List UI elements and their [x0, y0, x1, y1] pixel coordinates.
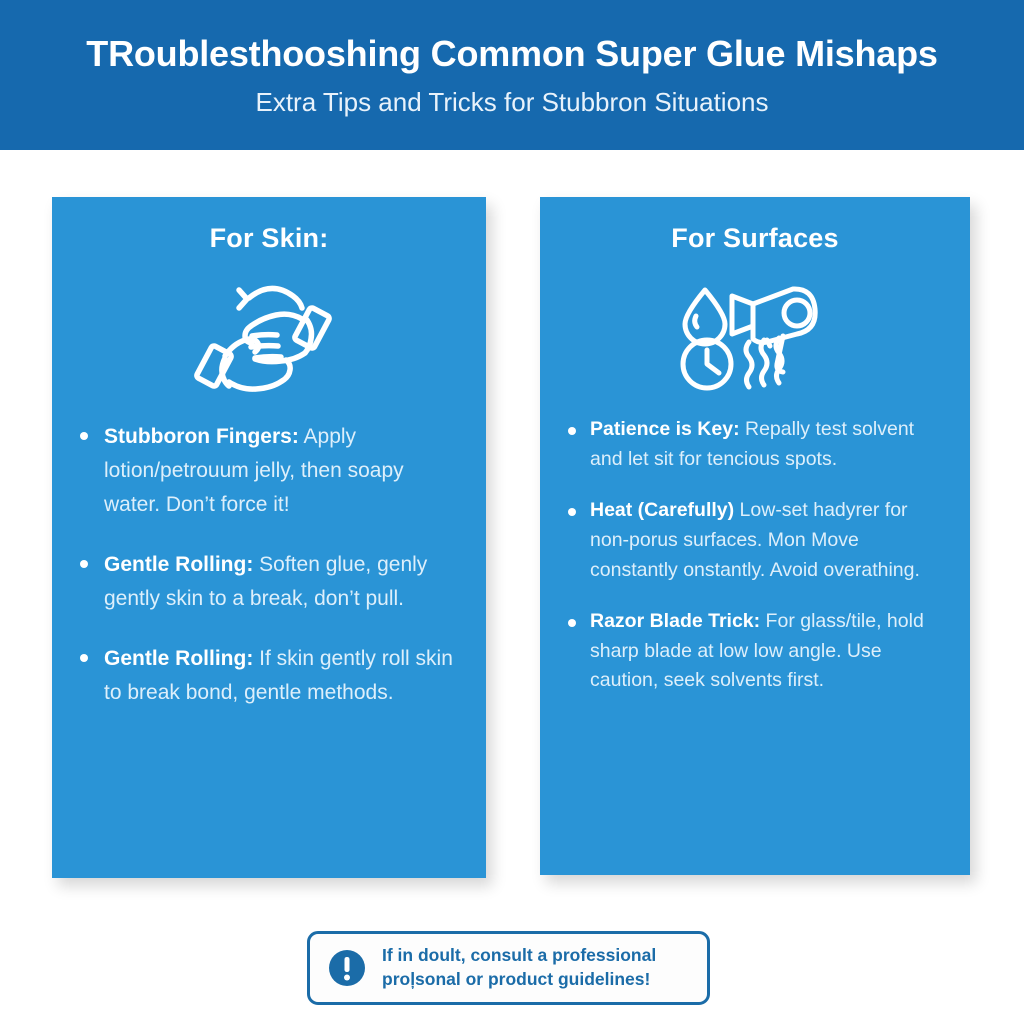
list-item: Heat (Carefully) Low-set hadyrer for non…: [562, 496, 948, 585]
surfaces-tip-list: Patience is Key: Repally test solvent an…: [562, 415, 948, 696]
list-item: Patience is Key: Repally test solvent an…: [562, 415, 948, 474]
list-item: Gentle Rolling: If skin gently roll skin…: [74, 642, 464, 710]
page-subtitle: Extra Tips and Tricks for Stubbron Situa…: [255, 88, 768, 117]
bullet-dot-icon: [568, 508, 576, 516]
header-banner: TRoublesthooshing Common Super Glue Mish…: [0, 0, 1024, 150]
bullet-lead: Gentle Rolling:: [104, 553, 253, 576]
card-for-skin: For Skin: Stub: [52, 197, 486, 878]
card-title-skin: For Skin:: [74, 223, 464, 254]
bullet-lead: Stubboron Fingers:: [104, 425, 299, 448]
bullet-dot-icon: [80, 560, 88, 568]
hairdryer-droplet-clock-icon: [675, 270, 835, 395]
list-item: Razor Blade Trick: For glass/tile, hold …: [562, 607, 948, 696]
list-item: Stubboron Fingers: Apply lotion/petrouum…: [74, 420, 464, 522]
bullet-lead: Patience is Key:: [590, 418, 740, 440]
bullet-dot-icon: [80, 654, 88, 662]
disclaimer-text: If in doult, consult a professional proļ…: [382, 944, 689, 991]
exclamation-circle-icon: [328, 949, 366, 987]
bullet-lead: Razor Blade Trick:: [590, 610, 760, 632]
skin-tip-list: Stubboron Fingers: Apply lotion/petrouum…: [74, 420, 464, 710]
bullet-lead: Gentle Rolling:: [104, 647, 253, 670]
page-title: TRoublesthooshing Common Super Glue Mish…: [86, 34, 937, 74]
hands-rubbing-icon: [189, 270, 349, 400]
bullet-dot-icon: [568, 427, 576, 435]
bullet-lead: Heat (Carefully): [590, 499, 734, 521]
list-item: Gentle Rolling: Soften glue, genly gentl…: [74, 548, 464, 616]
disclaimer-note: If in doult, consult a professional proļ…: [307, 931, 710, 1005]
bullet-dot-icon: [568, 619, 576, 627]
card-title-surfaces: For Surfaces: [562, 223, 948, 254]
card-for-surfaces: For Surfaces Patience is Key: [540, 197, 970, 875]
bullet-dot-icon: [80, 432, 88, 440]
